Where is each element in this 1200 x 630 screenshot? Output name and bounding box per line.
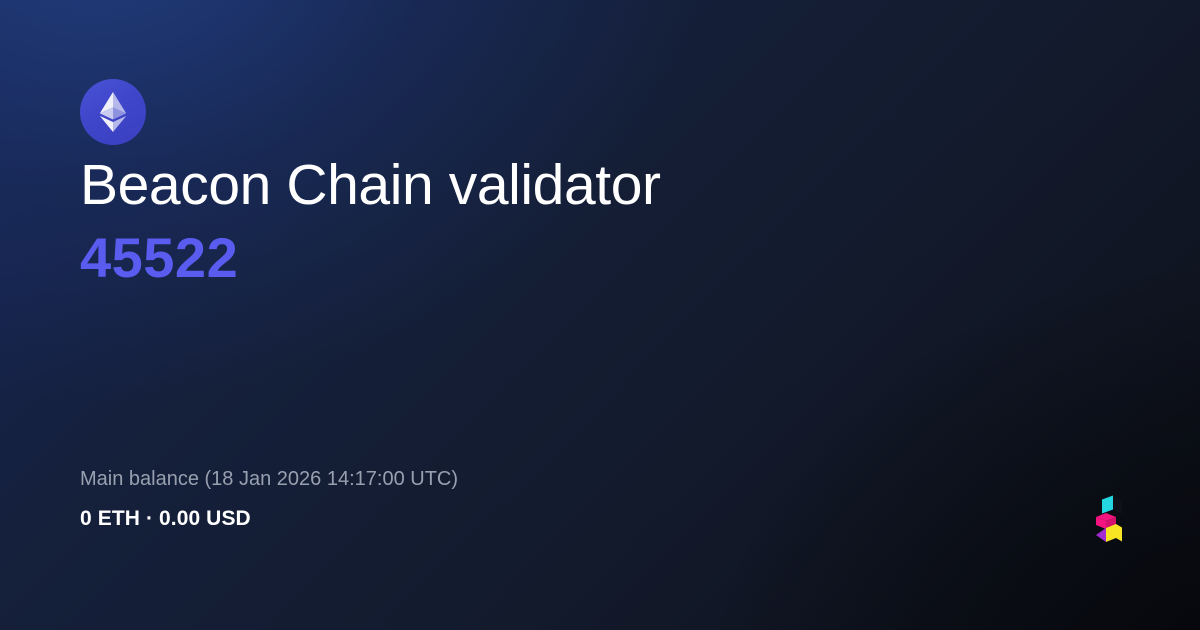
- page-title: Beacon Chain validator: [80, 149, 1080, 221]
- ethereum-icon: [80, 79, 146, 145]
- card-content: Beacon Chain validator 45522 Main balanc…: [80, 0, 1120, 630]
- og-card: Beacon Chain validator 45522 Main balanc…: [0, 0, 1200, 630]
- main-balance-value: 0 ETH · 0.00 USD: [80, 505, 458, 533]
- main-balance-block: Main balance (18 Jan 2026 14:17:00 UTC) …: [80, 463, 458, 533]
- beaconchain-logo: [1092, 494, 1126, 548]
- validator-index: 45522: [80, 223, 238, 293]
- main-balance-label: Main balance (18 Jan 2026 14:17:00 UTC): [80, 463, 458, 495]
